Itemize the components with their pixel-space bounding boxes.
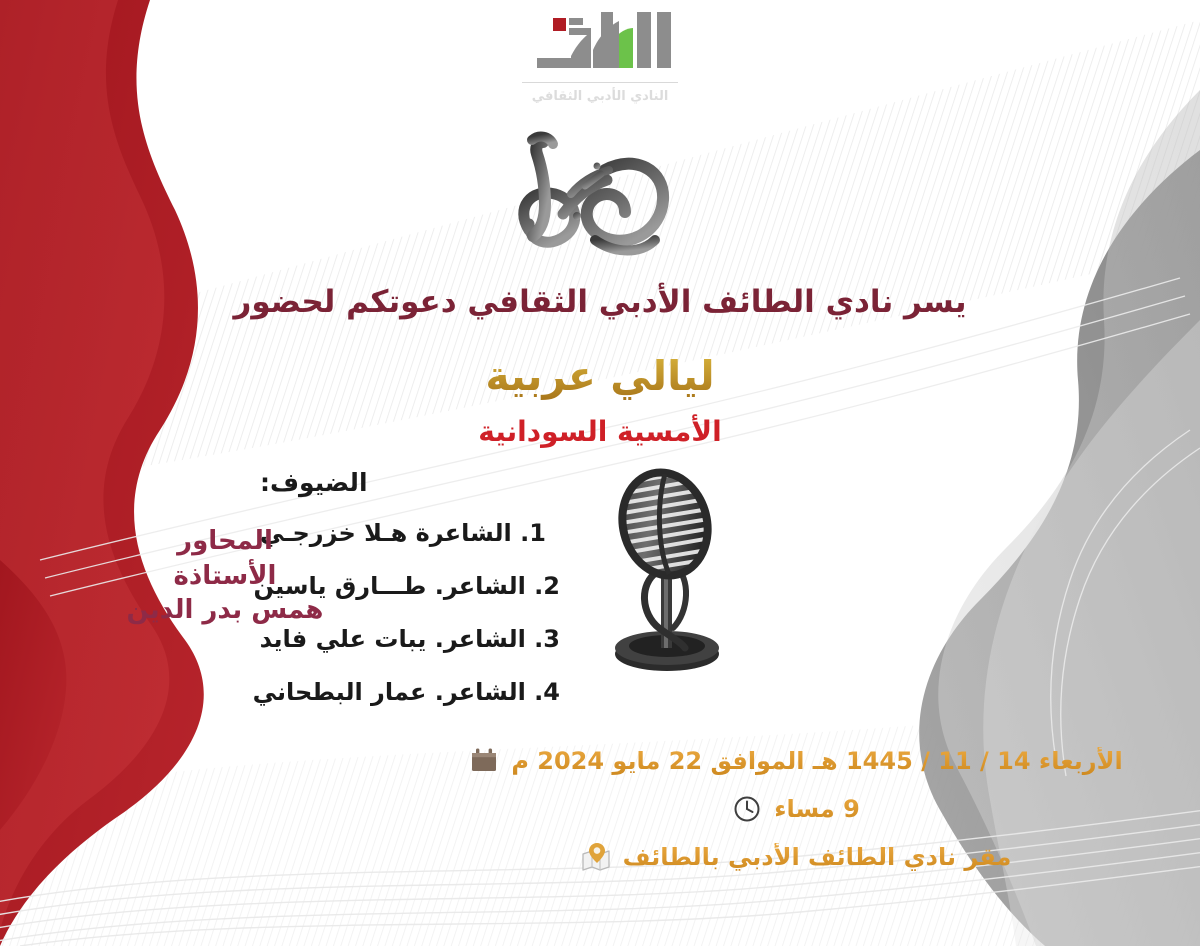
detail-row-place: مقر نادي الطائف الأدبي بالطائف <box>0 840 1200 874</box>
detail-row-time: 9 مساء <box>0 792 1200 826</box>
adabi-club-logo-icon <box>515 6 685 78</box>
moderator-name: همس بدر الدين <box>100 593 350 628</box>
event-place-text: مقر نادي الطائف الأدبي بالطائف <box>623 843 1012 871</box>
guest-item: 3. الشاعر. يبات علي فايد <box>260 625 560 653</box>
moderator-role: المحاور <box>100 524 350 559</box>
detail-row-date: الأربعاء 14 / 11 / 1445 هـ الموافق 22 ما… <box>0 744 1200 778</box>
guest-item: 4. الشاعر. عمار البطحاني <box>260 678 560 706</box>
clock-icon <box>730 792 764 826</box>
dawa-calligraphy: دعوة <box>0 112 1200 277</box>
guests-heading: الضيوف: <box>260 468 560 497</box>
event-details: الأربعاء 14 / 11 / 1445 هـ الموافق 22 ما… <box>0 744 1200 888</box>
moderator-honorific: الأستاذة <box>100 559 350 594</box>
club-logo-block: النادي الأدبي الثقافي <box>0 6 1200 104</box>
moderator-block: المحاور الأستاذة همس بدر الدين <box>100 524 350 628</box>
invitation-headline: يسر نادي الطائف الأدبي الثقافي دعوتكم لح… <box>0 284 1200 320</box>
event-title: ليالي عربية <box>0 352 1200 400</box>
calendar-icon <box>467 744 501 778</box>
map-pin-icon <box>579 840 613 874</box>
event-time-text: 9 مساء <box>774 795 860 823</box>
logo-divider <box>522 82 678 83</box>
vintage-microphone-icon <box>585 462 755 682</box>
logo-caption: النادي الأدبي الثقافي <box>532 89 669 104</box>
event-date-text: الأربعاء 14 / 11 / 1445 هـ الموافق 22 ما… <box>511 747 1122 775</box>
event-subtitle: الأمسية السودانية <box>0 415 1200 448</box>
invitation-poster: النادي الأدبي الثقافي <box>0 0 1200 946</box>
